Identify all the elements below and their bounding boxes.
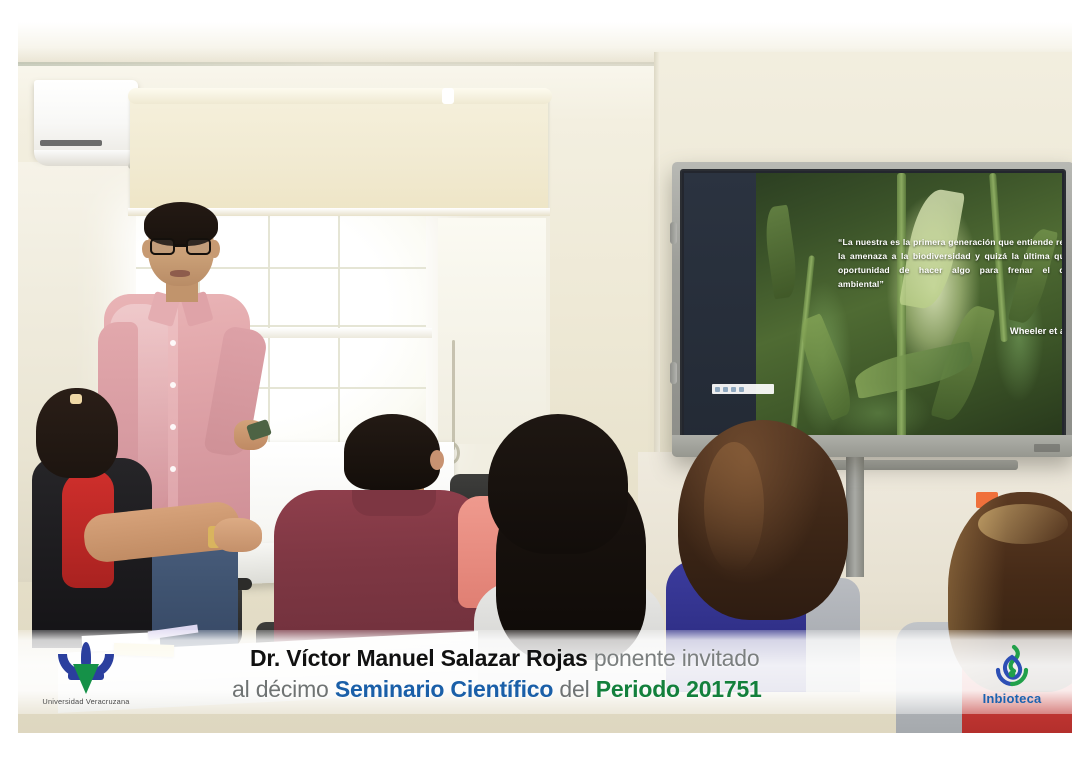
blind-cord[interactable] [452,340,455,450]
air-conditioner [34,80,138,158]
presenter-mouth [170,270,190,277]
uv-fleur-de-lis-icon [54,642,118,694]
toolbar-more-icon[interactable] [739,387,744,392]
caption-line-2: al décimo Seminario Científico del Perio… [220,674,950,704]
display-brand-logo [1034,444,1060,452]
roller-blind[interactable] [130,92,548,212]
air-conditioner-vent [34,150,140,166]
attendee-blue-vest-hair-highlight [704,442,764,572]
roller-blind-cap [442,88,454,104]
event-period: Periodo 201751 [596,676,762,702]
attendee-maroon-collar [352,490,436,516]
speaker-name: Dr. Víctor Manuel Salazar Rojas [250,645,588,671]
display-bezel: “La nuestra es la primera generación que… [680,169,1066,450]
attendee-maroon-hair [344,414,440,490]
caption-line-1: Dr. Víctor Manuel Salazar Rojas ponente … [220,643,950,673]
universidad-veracruzana-logo: Universidad Veracruzana [30,636,142,712]
toolbar-pointer-icon[interactable] [731,387,736,392]
event-name: Seminario Científico [335,676,553,702]
seminar-photo: “La nuestra es la primera generación que… [18,22,1072,733]
attendee-maroon-ear [430,450,444,470]
attendee-right-hair-highlight [978,504,1068,544]
caption-text-block: Dr. Víctor Manuel Salazar Rojas ponente … [220,634,950,712]
attendee-center-hair [488,414,628,554]
uv-logo-text: Universidad Veracruzana [42,697,129,706]
speaker-role: ponente invitado [588,645,760,671]
inbioteca-flame-icon [989,644,1035,690]
inbioteca-logo-text: Inbioteca [983,691,1042,706]
attendee-left-hand [214,518,262,552]
toolbar-pen-icon[interactable] [715,387,720,392]
presenter-shirt-placket [168,304,178,532]
slide-quote-text: “La nuestra es la primera generación que… [838,235,1062,291]
event-prefix: al décimo [232,676,335,702]
attendee-left-hairclip [70,394,82,404]
display-toolbar[interactable] [712,384,774,394]
display-screen[interactable]: “La nuestra es la primera generación que… [684,173,1062,446]
toolbar-eraser-icon[interactable] [723,387,728,392]
roller-blind-tube [128,88,552,104]
slide-attribution: Wheeler et al. (2004) [838,325,1062,336]
poster-canvas: “La nuestra es la primera generación que… [0,0,1090,760]
air-conditioner-display [40,140,102,146]
screen-letterbox [684,173,756,446]
display-stand [846,457,864,577]
inbioteca-logo: Inbioteca [962,636,1062,714]
event-connector: del [553,676,595,702]
presenter-glasses [150,238,212,255]
interactive-display[interactable]: “La nuestra es la primera generación que… [672,162,1072,457]
slide-background-image: “La nuestra es la primera generación que… [756,173,1062,446]
